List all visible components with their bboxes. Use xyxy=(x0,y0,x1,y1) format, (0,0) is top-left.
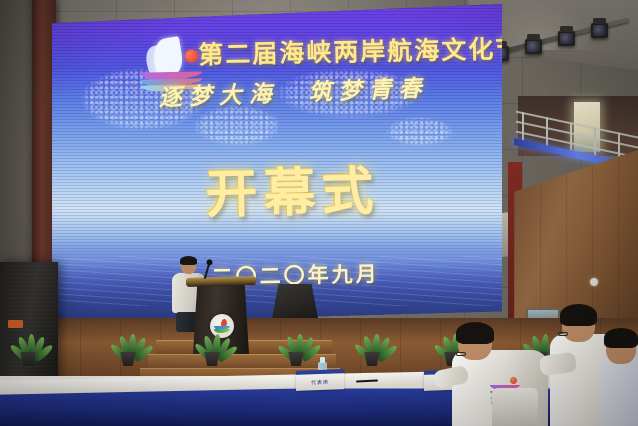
sun-dot-icon xyxy=(185,49,198,62)
attendee-far-right xyxy=(598,316,638,426)
spotlight-icon xyxy=(525,39,542,54)
spotlight-icon xyxy=(558,31,575,46)
glasses-icon xyxy=(456,352,466,356)
name-card: 代表席 xyxy=(296,369,344,391)
led-display-screen: 第二届海峡两岸航海文化节 逐梦大海 筑梦青春 开幕式 二〇二〇年九月 xyxy=(52,4,502,324)
screen-main-heading: 开幕式 xyxy=(205,149,380,227)
spotlight-icon xyxy=(591,23,608,38)
auditorium-scene: 第二届海峡两岸航海文化节 逐梦大海 筑梦青春 开幕式 二〇二〇年九月 xyxy=(0,0,638,426)
podium-top-surface xyxy=(186,276,256,287)
wall-fixture-icon xyxy=(590,278,598,286)
chair-back xyxy=(492,388,538,426)
screen-title: 第二届海峡两岸航海文化节 xyxy=(198,30,523,72)
glasses-icon xyxy=(558,332,568,336)
